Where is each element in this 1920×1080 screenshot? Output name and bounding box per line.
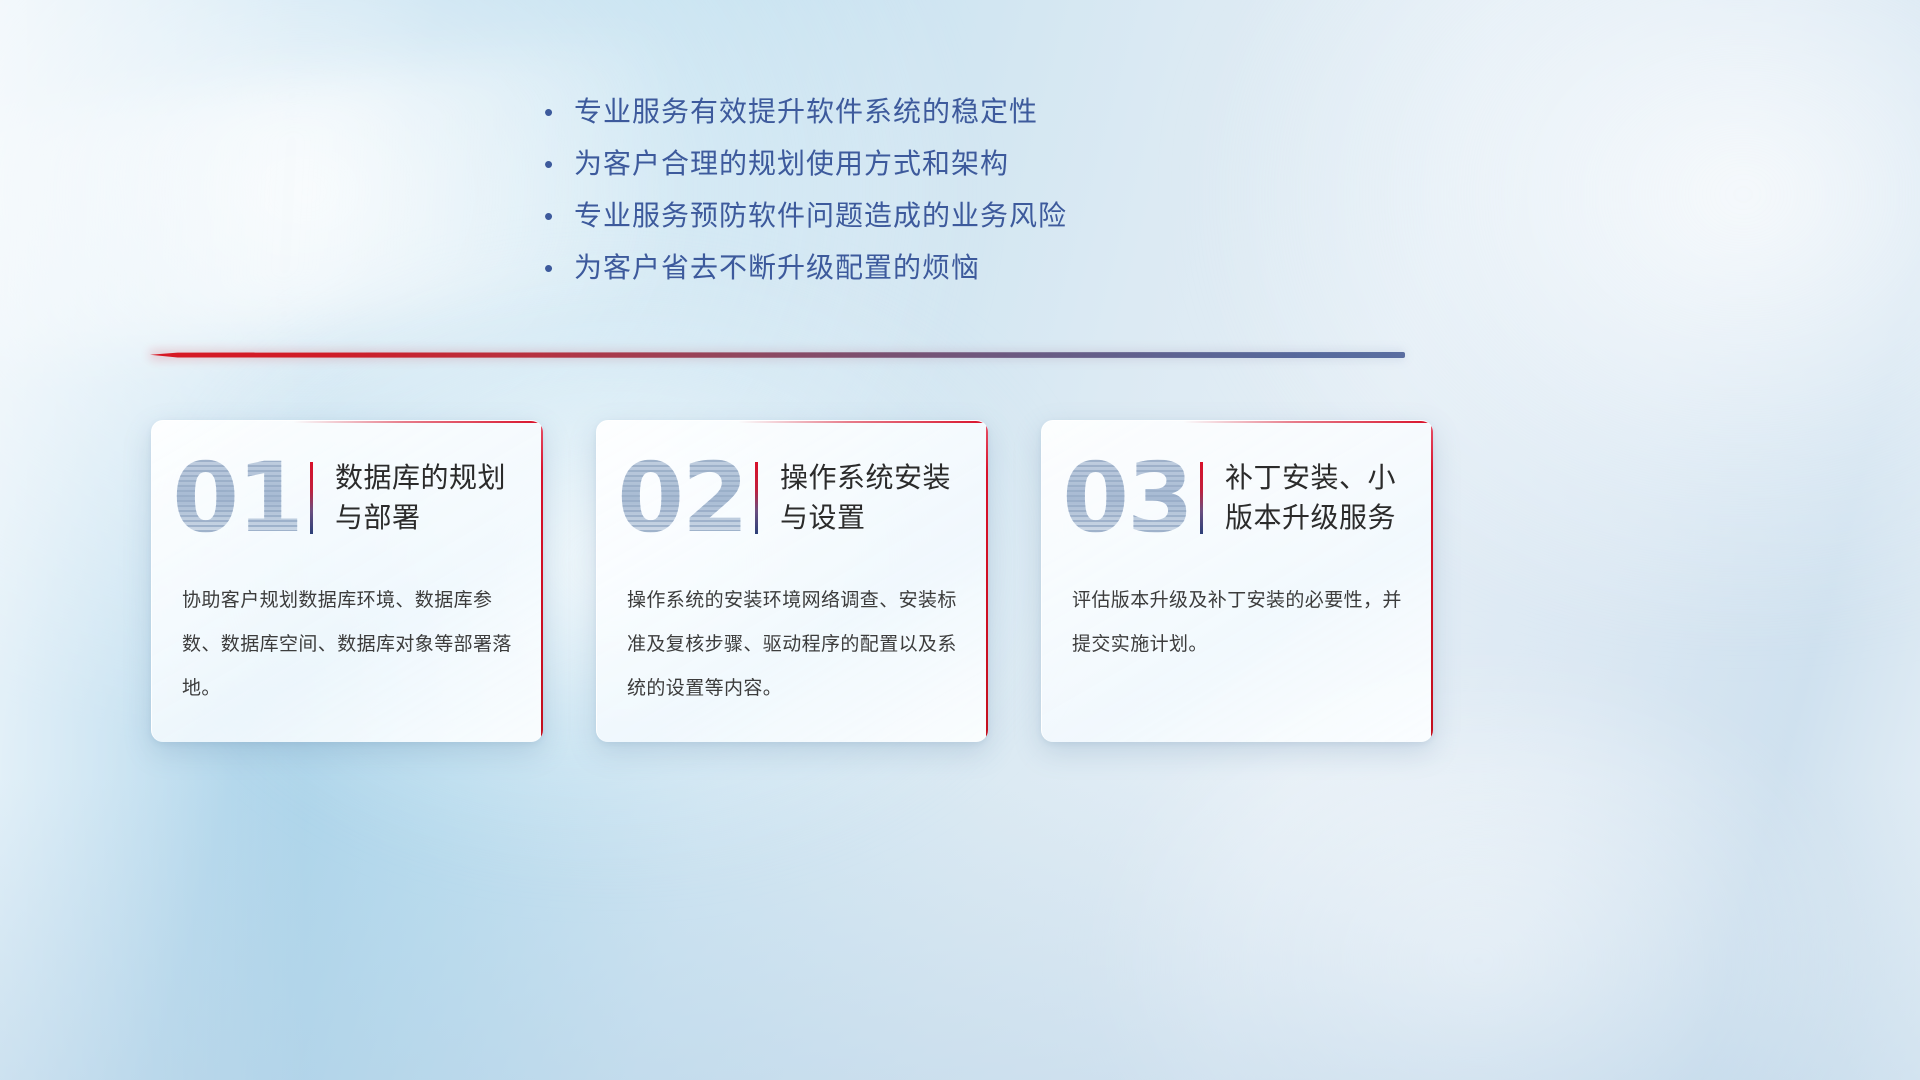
bullet-dot-icon: • xyxy=(540,92,574,132)
card-top-accent-line xyxy=(293,421,543,423)
card-header: 02 操作系统安装与设置 xyxy=(597,435,988,561)
card-accent-bar xyxy=(310,462,313,534)
service-card-03[interactable]: 03 补丁安装、小版本升级服务 评估版本升级及补丁安装的必要性，并提交实施计划。 xyxy=(1041,420,1433,742)
card-number-watermark: 02 xyxy=(619,443,745,553)
bullet-text: 为客户省去不断升级配置的烦恼 xyxy=(574,248,980,288)
card-number-text: 03 xyxy=(1062,450,1192,546)
section-divider xyxy=(150,348,1405,362)
card-title: 补丁安装、小版本升级服务 xyxy=(1225,458,1433,538)
service-card-02[interactable]: 02 操作系统安装与设置 操作系统的安装环境网络调查、安装标准及复核步骤、驱动程… xyxy=(596,420,988,742)
card-accent-bar xyxy=(755,462,758,534)
list-item: • 专业服务预防软件问题造成的业务风险 xyxy=(540,196,1300,248)
card-title: 数据库的规划与部署 xyxy=(335,458,543,538)
card-number-text: 02 xyxy=(617,450,747,546)
card-number-watermark: 03 xyxy=(1064,443,1190,553)
card-number-text: 01 xyxy=(172,450,302,546)
bullet-text: 为客户合理的规划使用方式和架构 xyxy=(574,144,1009,184)
bullet-text: 专业服务预防软件问题造成的业务风险 xyxy=(574,196,1067,236)
card-number-watermark: 01 xyxy=(174,443,300,553)
bullet-dot-icon: • xyxy=(540,248,574,288)
card-top-accent-line xyxy=(1183,421,1433,423)
background-tint-bottom xyxy=(0,778,1920,1080)
card-description: 协助客户规划数据库环境、数据库参数、数据库空间、数据库对象等部署落地。 xyxy=(182,579,517,711)
card-description: 评估版本升级及补丁安装的必要性，并提交实施计划。 xyxy=(1072,579,1407,667)
card-title: 操作系统安装与设置 xyxy=(780,458,988,538)
list-item: • 为客户省去不断升级配置的烦恼 xyxy=(540,248,1300,300)
card-accent-bar xyxy=(1200,462,1203,534)
bullet-text: 专业服务有效提升软件系统的稳定性 xyxy=(574,92,1038,132)
list-item: • 专业服务有效提升软件系统的稳定性 xyxy=(540,92,1300,144)
card-top-accent-line xyxy=(738,421,988,423)
card-header: 03 补丁安装、小版本升级服务 xyxy=(1042,435,1433,561)
list-item: • 为客户合理的规划使用方式和架构 xyxy=(540,144,1300,196)
divider-line xyxy=(150,352,1405,358)
card-header: 01 数据库的规划与部署 xyxy=(152,435,543,561)
bullet-dot-icon: • xyxy=(540,144,574,184)
card-description: 操作系统的安装环境网络调查、安装标准及复核步骤、驱动程序的配置以及系统的设置等内… xyxy=(627,579,962,711)
benefits-bullet-list: • 专业服务有效提升软件系统的稳定性 • 为客户合理的规划使用方式和架构 • 专… xyxy=(540,92,1300,300)
service-card-01[interactable]: 01 数据库的规划与部署 协助客户规划数据库环境、数据库参数、数据库空间、数据库… xyxy=(151,420,543,742)
bullet-dot-icon: • xyxy=(540,196,574,236)
